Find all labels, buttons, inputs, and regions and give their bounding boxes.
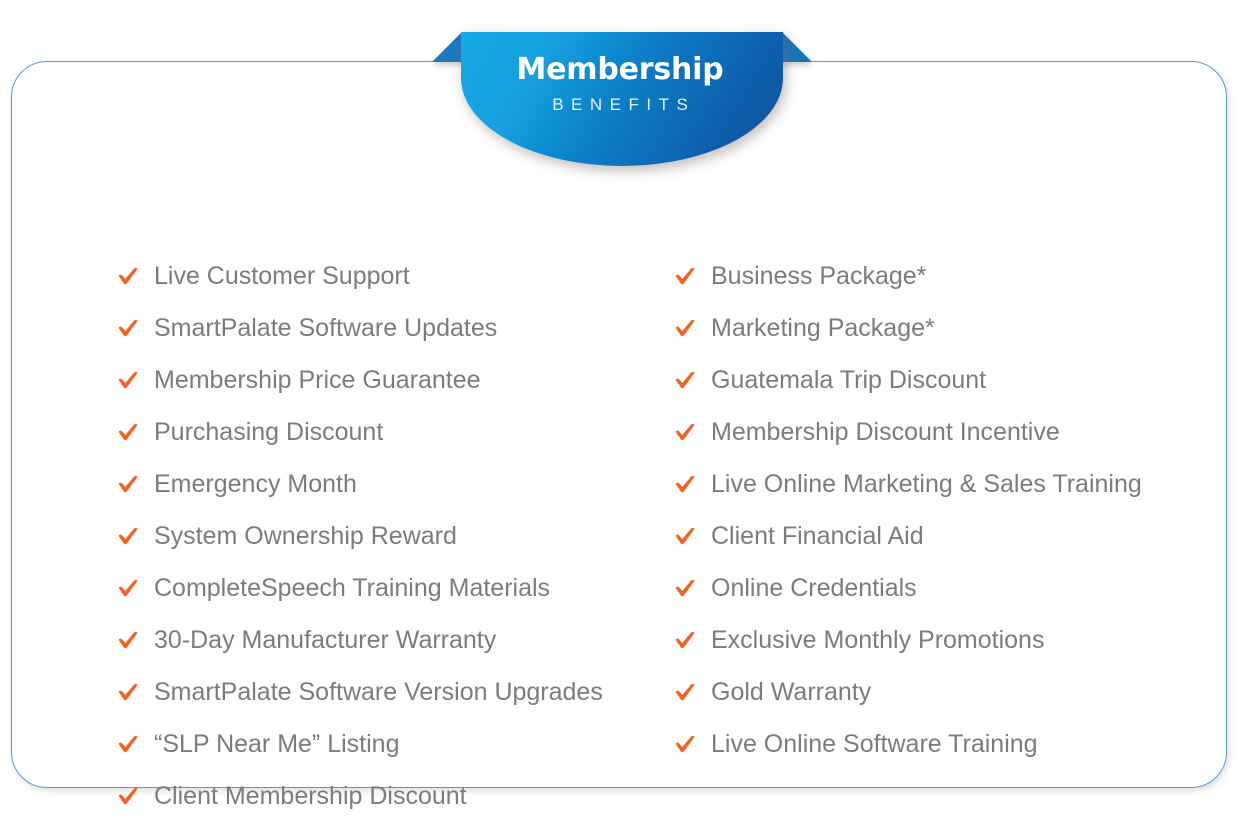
benefit-item: Online Credentials	[673, 562, 1233, 614]
benefit-item: Exclusive Monthly Promotions	[673, 614, 1233, 666]
benefit-label: Live Customer Support	[154, 261, 410, 291]
benefit-item: SmartPalate Software Updates	[116, 302, 656, 354]
benefit-item: Marketing Package*	[673, 302, 1233, 354]
benefit-label: Live Online Software Training	[711, 729, 1038, 759]
benefit-label: Online Credentials	[711, 573, 917, 603]
check-icon	[673, 264, 711, 288]
benefit-item: Guatemala Trip Discount	[673, 354, 1233, 406]
benefit-label: Live Online Marketing & Sales Training	[711, 469, 1142, 499]
benefit-label: CompleteSpeech Training Materials	[154, 573, 550, 603]
check-icon	[673, 680, 711, 704]
benefit-item: CompleteSpeech Training Materials	[116, 562, 656, 614]
benefit-label: SmartPalate Software Updates	[154, 313, 497, 343]
check-icon	[673, 524, 711, 548]
benefit-item: Membership Discount Incentive	[673, 406, 1233, 458]
benefit-item: Live Online Marketing & Sales Training	[673, 458, 1233, 510]
check-icon	[116, 524, 154, 548]
benefit-label: Membership Discount Incentive	[711, 417, 1060, 447]
benefit-label: System Ownership Reward	[154, 521, 457, 551]
benefit-label: Membership Price Guarantee	[154, 365, 481, 395]
benefit-label: Gold Warranty	[711, 677, 871, 707]
check-icon	[116, 732, 154, 756]
benefit-item: Live Online Software Training	[673, 718, 1233, 770]
benefit-item: System Ownership Reward	[116, 510, 656, 562]
ribbon-tail-left	[432, 32, 500, 62]
benefit-item: Live Customer Support	[116, 250, 656, 302]
benefits-column-right: Business Package*Marketing Package*Guate…	[673, 250, 1233, 770]
benefit-label: 30-Day Manufacturer Warranty	[154, 625, 496, 655]
benefit-label: SmartPalate Software Version Upgrades	[154, 677, 603, 707]
benefit-label: Exclusive Monthly Promotions	[711, 625, 1044, 655]
benefit-item: 30-Day Manufacturer Warranty	[116, 614, 656, 666]
benefit-item: Business Package*	[673, 250, 1233, 302]
check-icon	[673, 472, 711, 496]
benefit-item: Client Membership Discount	[116, 770, 656, 822]
check-icon	[116, 316, 154, 340]
benefit-label: Client Financial Aid	[711, 521, 924, 551]
check-icon	[673, 368, 711, 392]
benefit-item: Emergency Month	[116, 458, 656, 510]
benefit-item: Client Financial Aid	[673, 510, 1233, 562]
check-icon	[116, 420, 154, 444]
check-icon	[673, 420, 711, 444]
benefit-item: SmartPalate Software Version Upgrades	[116, 666, 656, 718]
check-icon	[116, 472, 154, 496]
check-icon	[116, 368, 154, 392]
check-icon	[116, 264, 154, 288]
check-icon	[116, 680, 154, 704]
benefit-label: Emergency Month	[154, 469, 357, 499]
check-icon	[673, 316, 711, 340]
check-icon	[673, 576, 711, 600]
benefit-label: Purchasing Discount	[154, 417, 383, 447]
check-icon	[116, 576, 154, 600]
benefit-item: Purchasing Discount	[116, 406, 656, 458]
check-icon	[116, 784, 154, 808]
ribbon-tail-right	[744, 32, 812, 62]
benefit-label: Client Membership Discount	[154, 781, 467, 811]
benefit-item: “SLP Near Me” Listing	[116, 718, 656, 770]
benefit-item: Gold Warranty	[673, 666, 1233, 718]
check-icon	[116, 628, 154, 652]
benefit-label: Business Package*	[711, 261, 926, 291]
benefit-item: Membership Price Guarantee	[116, 354, 656, 406]
benefit-label: Guatemala Trip Discount	[711, 365, 986, 395]
benefit-label: “SLP Near Me” Listing	[154, 729, 399, 759]
benefits-column-left: Live Customer SupportSmartPalate Softwar…	[116, 250, 656, 822]
check-icon	[673, 628, 711, 652]
membership-benefits-card: Live Customer SupportSmartPalate Softwar…	[11, 61, 1227, 788]
benefit-label: Marketing Package*	[711, 313, 935, 343]
check-icon	[673, 732, 711, 756]
